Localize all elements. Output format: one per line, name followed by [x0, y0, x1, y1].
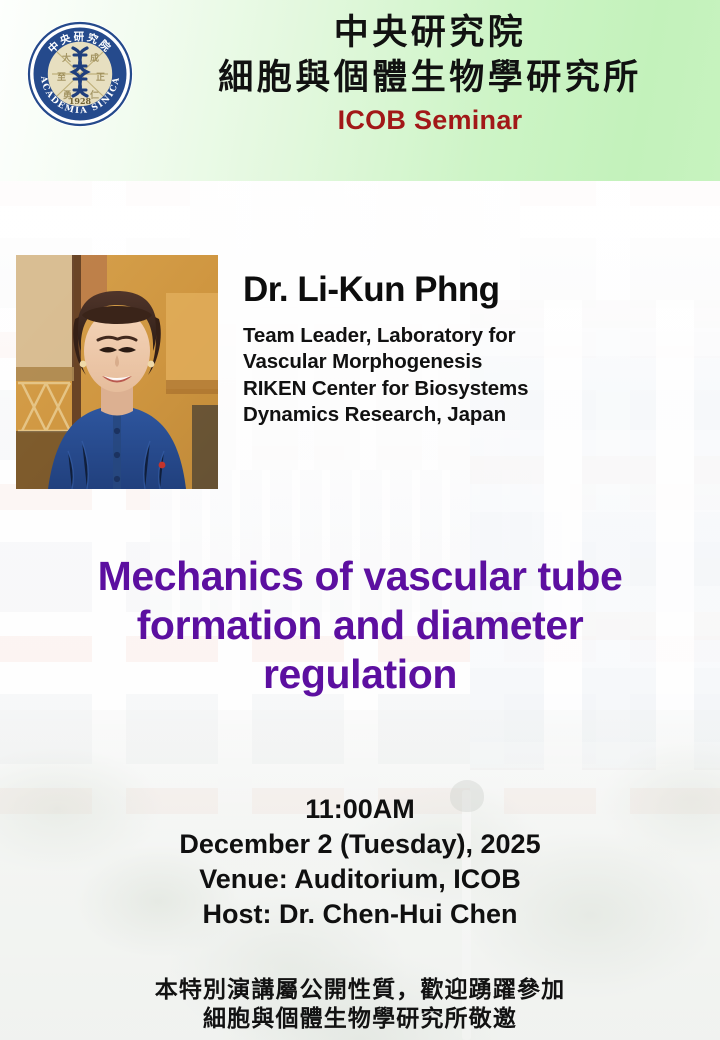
svg-text:正: 正 [96, 72, 105, 83]
svg-text:仁: 仁 [90, 89, 99, 101]
seminar-poster: 大 成 至 正 勇 仁 1 [0, 0, 720, 1040]
academia-sinica-logo: 大 成 至 正 勇 仁 1 [24, 18, 136, 130]
speaker-name: Dr. Li-Kun Phng [243, 271, 713, 310]
logo-year: 1928 [69, 96, 92, 106]
academia-sinica-logo-icon: 大 成 至 正 勇 仁 1 [24, 18, 136, 130]
footer-line-open-to-public: 本特別演講屬公開性質，歡迎踴躍參加 [40, 975, 680, 1004]
event-venue: Venue: Auditorium, ICOB [40, 862, 680, 897]
talk-title: Mechanics of vascular tube formation and… [20, 552, 700, 700]
header-title-block: 中央研究院 細胞與個體生物學研究所 ICOB Seminar [150, 12, 710, 136]
footer-invitation-note: 本特別演講屬公開性質，歡迎踴躍參加 細胞與個體生物學研究所敬邀 [40, 975, 680, 1034]
event-details-block: 11:00AM December 2 (Tuesday), 2025 Venue… [40, 792, 680, 932]
speaker-portrait-photo [16, 255, 218, 489]
svg-text:至: 至 [57, 72, 66, 83]
poster-header-band: 大 成 至 正 勇 仁 1 [0, 0, 720, 181]
svg-text:成: 成 [90, 52, 99, 64]
institute-name: 細胞與個體生物學研究所 [150, 57, 710, 100]
speaker-info-block: Dr. Li-Kun Phng Team Leader, Laboratory … [243, 271, 713, 429]
event-time: 11:00AM [40, 792, 680, 827]
footer-line-host-institute: 細胞與個體生物學研究所敬邀 [40, 1004, 680, 1033]
speaker-portrait-illustration [16, 255, 218, 489]
event-date: December 2 (Tuesday), 2025 [40, 827, 680, 862]
organization-name: 中央研究院 [150, 12, 710, 55]
seminar-series-label: ICOB Seminar [150, 105, 710, 136]
svg-text:大: 大 [62, 52, 71, 64]
event-host: Host: Dr. Chen-Hui Chen [40, 897, 680, 932]
speaker-affiliation: Team Leader, Laboratory for Vascular Mor… [243, 323, 713, 430]
